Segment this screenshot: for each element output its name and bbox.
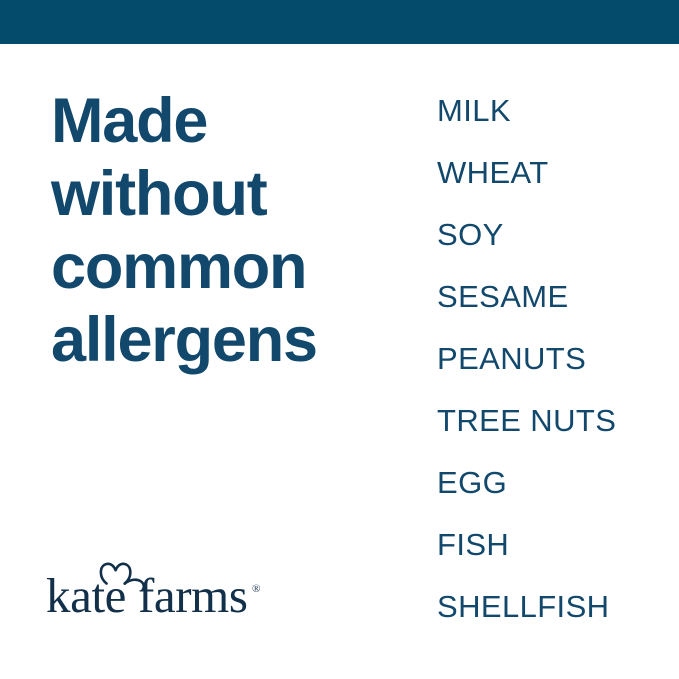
- logo-wordmark: kate farms: [46, 568, 248, 620]
- list-item: WHEAT: [437, 142, 667, 204]
- registered-trademark-mark: ®: [252, 583, 260, 595]
- list-item: PEANUTS: [437, 328, 667, 390]
- list-item: FISH: [437, 514, 667, 576]
- list-item: SOY: [437, 204, 667, 266]
- headline-line-1: Made: [51, 85, 391, 158]
- headline-line-2: without: [51, 158, 391, 231]
- brand-logo: kate farms ®: [46, 556, 276, 620]
- logo-text-farms: farms: [138, 568, 248, 620]
- allergen-list: MILK WHEAT SOY SESAME PEANUTS TREE NUTS …: [437, 80, 667, 638]
- top-banner: [0, 0, 679, 44]
- list-item: MILK: [437, 80, 667, 142]
- logo-text-kate: kate: [46, 568, 126, 620]
- page-title: Made without common allergens: [51, 85, 391, 377]
- list-item: SHELLFISH: [437, 576, 667, 638]
- list-item: SESAME: [437, 266, 667, 328]
- headline-line-3: common: [51, 231, 391, 304]
- allergen-info-card: Made without common allergens MILK WHEAT…: [0, 0, 679, 679]
- list-item: TREE NUTS: [437, 390, 667, 452]
- headline-line-4: allergens: [51, 304, 391, 377]
- list-item: EGG: [437, 452, 667, 514]
